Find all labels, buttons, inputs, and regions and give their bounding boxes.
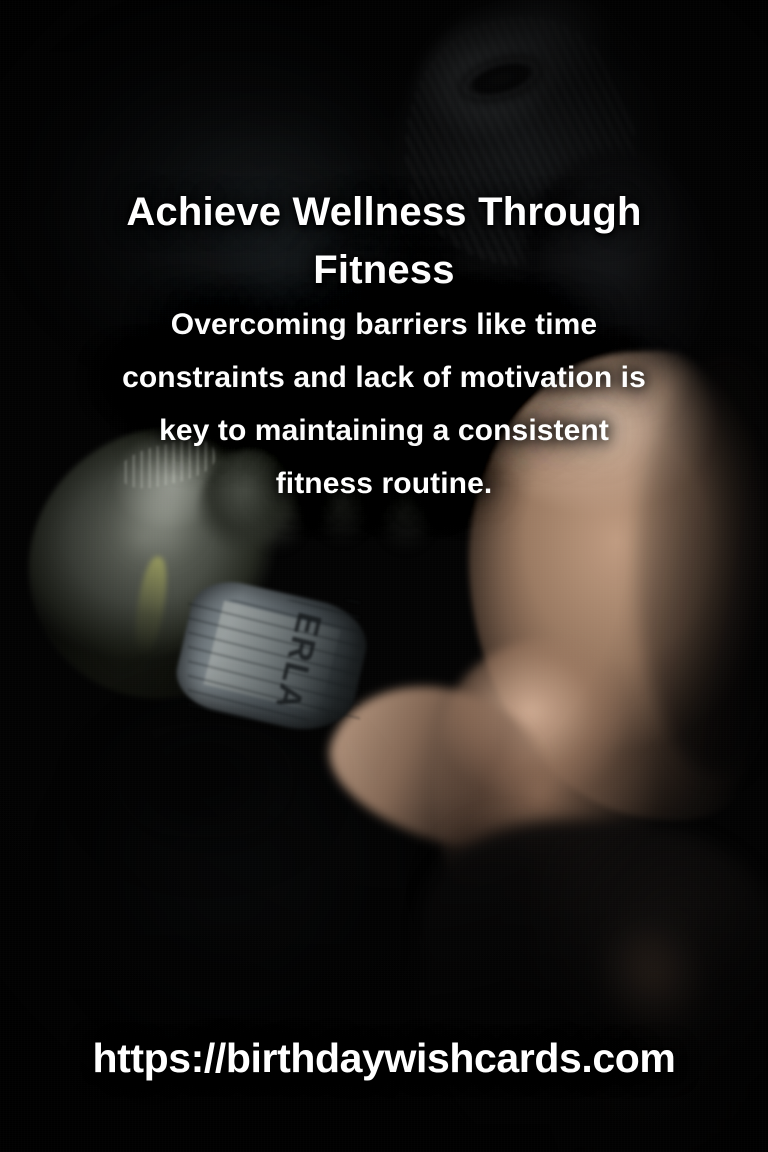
fitness-quote-poster: ERLAST Achieve Wellness Through Fitness … [0,0,768,1152]
page-title: Achieve Wellness Through Fitness [70,183,698,299]
text-overlay: Achieve Wellness Through Fitness Overcom… [0,0,768,1152]
website-url[interactable]: https://birthdaywishcards.com [34,1032,734,1084]
body-text: Overcoming barriers like time constraint… [110,298,658,510]
